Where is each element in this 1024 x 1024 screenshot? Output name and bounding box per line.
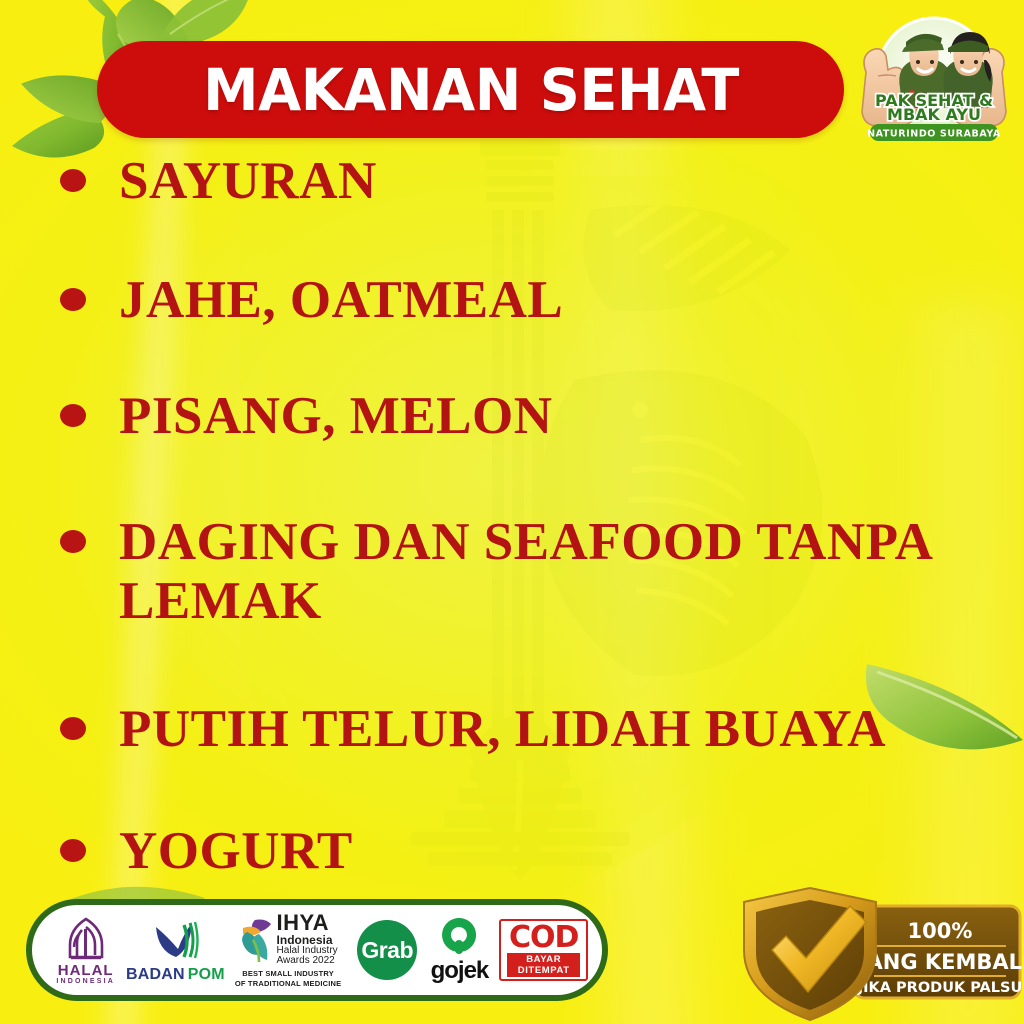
list-item-label: SAYURAN	[119, 152, 377, 211]
grab-icon: Grab	[357, 920, 417, 980]
ihya-heading: IHYA	[277, 912, 338, 934]
brand-name-line2: MBAK AYU	[887, 105, 981, 124]
brand-tagline: NATURINDO SURABAYA	[867, 129, 1001, 140]
light-streak	[539, 0, 731, 1024]
cod-label: COD	[507, 924, 580, 952]
list-item: JAHE, OATMEAL	[60, 271, 563, 330]
cod-badge: COD BAYAR DITEMPAT	[499, 919, 588, 982]
gojek-icon	[439, 916, 479, 956]
list-item-label: DAGING DAN SEAFOOD TANPA LEMAK	[119, 513, 933, 632]
ihya-line3: Awards 2022	[277, 956, 338, 966]
bullet-icon	[60, 288, 86, 311]
list-item-label: PISANG, MELON	[119, 387, 552, 446]
brand-logo: PAK SEHAT & MBAK AYU NATURINDO SURABAYA	[848, 14, 1020, 142]
list-item-label: YOGURT	[119, 822, 353, 881]
badan-pom-word2: POM	[188, 966, 225, 984]
poster-canvas: MAKANAN SEHAT	[0, 0, 1024, 1024]
list-item: PISANG, MELON	[60, 387, 552, 446]
list-item-label: PUTIH TELUR, LIDAH BUAYA	[119, 700, 886, 759]
cod-sublabel: BAYAR DITEMPAT	[507, 953, 580, 977]
certification-bar: HALAL INDONESIA BADAN POM	[26, 899, 608, 1001]
guarantee-graphic: 100% UANG KEMBALI JIKA PRODUK PALSU	[742, 884, 1024, 1024]
grab-label: Grab	[361, 937, 413, 964]
ihya-award-logo: IHYA Indonesia Halal Industry Awards 202…	[225, 912, 351, 988]
halal-label: HALAL	[58, 963, 114, 979]
bullet-icon	[60, 404, 86, 427]
guarantee-line2: JIKA PRODUK PALSU	[857, 980, 1022, 996]
bullet-icon	[60, 717, 86, 740]
page-title-bar: MAKANAN SEHAT	[97, 41, 844, 138]
halal-certification-logo: HALAL INDONESIA	[46, 915, 125, 986]
list-item-label: JAHE, OATMEAL	[119, 271, 563, 330]
page-title: MAKANAN SEHAT	[203, 56, 739, 124]
money-back-guarantee-badge: 100% UANG KEMBALI JIKA PRODUK PALSU	[742, 884, 1024, 1024]
ihya-icon	[239, 916, 273, 962]
gojek-label: gojek	[431, 957, 489, 985]
grab-logo: Grab	[355, 920, 420, 980]
halal-icon	[60, 915, 112, 963]
guarantee-percent: 100%	[908, 919, 973, 943]
bullet-icon	[60, 169, 86, 192]
badan-pom-logo: BADAN POM	[129, 917, 221, 984]
badan-pom-word1: BADAN	[126, 966, 185, 984]
list-item: PUTIH TELUR, LIDAH BUAYA	[60, 700, 886, 759]
gojek-logo: gojek	[423, 916, 495, 985]
list-item: SAYURAN	[60, 152, 377, 211]
badan-pom-icon	[150, 917, 200, 963]
bullet-icon	[60, 530, 86, 553]
list-item: YOGURT	[60, 822, 353, 881]
halal-sublabel: INDONESIA	[56, 978, 115, 985]
list-item: DAGING DAN SEAFOOD TANPA LEMAK	[60, 513, 933, 632]
ihya-footer: BEST SMALL INDUSTRY OF TRADITIONAL MEDIC…	[235, 969, 342, 988]
bullet-icon	[60, 839, 86, 862]
